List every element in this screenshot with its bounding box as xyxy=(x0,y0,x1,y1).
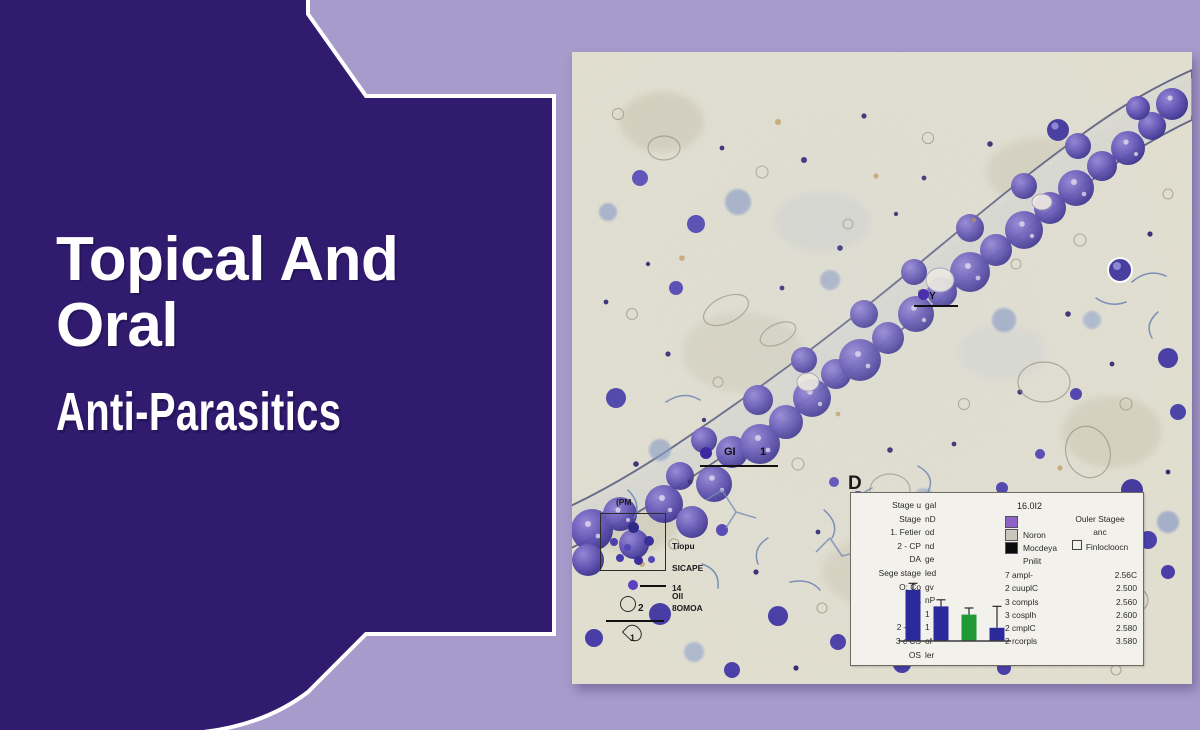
inset-circle-icon xyxy=(620,596,636,612)
bar-3 xyxy=(962,615,977,641)
inset-data-value-0: 2.56C xyxy=(1115,569,1137,582)
scalebar-dot xyxy=(700,447,712,459)
marker-y-dot xyxy=(918,289,929,300)
inset-data-value-1: 2.500 xyxy=(1116,582,1137,595)
inset-legend-row-3: Pnilit xyxy=(1005,554,1141,567)
inset-col-a-row-1: Stage xyxy=(857,513,921,527)
inset-legend-dot xyxy=(628,580,638,590)
inset-cell xyxy=(648,556,655,563)
inset-legend-label-3: Pnilit xyxy=(1023,556,1041,566)
inset-data-row-4: 2 cmplC2.580 xyxy=(1003,622,1141,635)
panel-letter-d: D xyxy=(848,474,862,493)
inset-legend-table: 16.0I2 Ouler Stagee anc Finlocloocn Noro… xyxy=(1003,497,1141,649)
inset-data-row-0: 7 ampl-2.56C xyxy=(1003,569,1141,582)
scalebar-value: 1 xyxy=(760,447,766,458)
inset-data-rows: 7 ampl-2.56C2 cuuplC2.5003 compls2.5603 … xyxy=(1003,569,1141,649)
inset-data-value-5: 3.580 xyxy=(1116,635,1137,648)
title-line-2: Oral xyxy=(56,294,526,358)
inset-data-label-4: 2 cmplC xyxy=(1005,622,1036,635)
inset-legend-swatch-2 xyxy=(1005,542,1018,554)
marker-y-rule xyxy=(914,305,958,307)
inset-leader-line xyxy=(640,585,666,587)
title-block: Topical And Oral Anti-Parasitics xyxy=(56,228,526,439)
inset-right-head-0: Ouler Stagee xyxy=(1063,514,1137,524)
scalebar-rule xyxy=(700,465,778,467)
inset-bar-chart xyxy=(899,571,1011,649)
inset-number-0: 2 xyxy=(638,604,644,614)
inset-col-b-row-2: od xyxy=(925,526,951,540)
inset-data-label-1: 2 cuuplC xyxy=(1005,582,1038,595)
inset-cell xyxy=(644,536,654,546)
inset-col-b-row-3: nd xyxy=(925,540,951,554)
inset-cell xyxy=(634,556,643,565)
inset-data-label-3: 3 cosplh xyxy=(1005,609,1036,622)
inset-col-a-row-2: 1. Fetier xyxy=(857,526,921,540)
marker-y-label: Y xyxy=(929,291,936,302)
inset-divider xyxy=(606,620,664,622)
inset-data-value-3: 2.600 xyxy=(1116,609,1137,622)
inset-data-value-2: 2.560 xyxy=(1116,596,1137,609)
inset-cell xyxy=(610,538,618,546)
bar-1 xyxy=(906,590,921,641)
title-line-1: Topical And xyxy=(56,228,526,292)
inset-right-head-2: Finlocloocn xyxy=(1063,540,1137,552)
inset-legend-swatch-0 xyxy=(1005,516,1018,528)
inset-left-label-3: 8OMOA xyxy=(672,604,703,612)
inset-data-row-1: 2 cuuplC2.500 xyxy=(1003,582,1141,595)
inset-chart-title: 16.0I2 xyxy=(1017,501,1141,511)
inset-data-row-3: 3 cosplh2.600 xyxy=(1003,609,1141,622)
marker-y-group: Y xyxy=(918,289,936,302)
inset-left-label-1: SICAPE xyxy=(672,564,703,572)
inset-legend-label-2: Mocdeya xyxy=(1023,543,1057,553)
inset-col-b-row-0: gal xyxy=(925,499,951,513)
inset-col-b-row-1: nD xyxy=(925,513,951,527)
scalebar-label: GI xyxy=(724,447,736,458)
inset-col-b-row-11: ler xyxy=(925,649,951,663)
inset-data-row-5: 2 rcorpls3.580 xyxy=(1003,635,1141,648)
inset-col-a-row-11: OS xyxy=(857,649,921,663)
inset-cell xyxy=(616,554,624,562)
inset-data-row-2: 3 compls2.560 xyxy=(1003,596,1141,609)
inset-cell xyxy=(624,544,631,551)
inset-col-a-row-4: DA xyxy=(857,553,921,567)
inset-data-label-2: 3 compls xyxy=(1005,596,1039,609)
checkbox-icon xyxy=(1072,540,1082,550)
title-subtitle: Anti-Parasitics xyxy=(56,385,404,439)
inset-right-head-2-label: Finlocloocn xyxy=(1086,542,1128,552)
inset-legend-label-1: Noron xyxy=(1023,530,1046,540)
bar-2 xyxy=(934,606,949,641)
inset-left-caption: (PM xyxy=(616,498,631,506)
inset-col-a-row-0: Stage u xyxy=(857,499,921,513)
inset-data-label-5: 2 rcorpls xyxy=(1005,635,1037,648)
inset-data-label-0: 7 ampl- xyxy=(1005,569,1033,582)
inset-chart-panel: Stage uStage1. Fetier2 - CPDASege stageO… xyxy=(850,492,1144,666)
inset-cell xyxy=(628,522,639,533)
slide-canvas: Topical And Oral Anti-Parasitics xyxy=(0,0,1200,728)
inset-right-head-1: anc xyxy=(1063,527,1137,537)
inset-left-label-0: Tiopu xyxy=(672,542,695,550)
inset-number-1: 1 xyxy=(630,634,635,643)
inset-legend-swatch-1 xyxy=(1005,529,1018,541)
inset-data-value-4: 2.580 xyxy=(1116,622,1137,635)
inset-left-label-2: 14 Oll xyxy=(672,584,683,601)
inset-col-a-row-3: 2 - CP xyxy=(857,540,921,554)
inset-col-b-row-4: ge xyxy=(925,553,951,567)
